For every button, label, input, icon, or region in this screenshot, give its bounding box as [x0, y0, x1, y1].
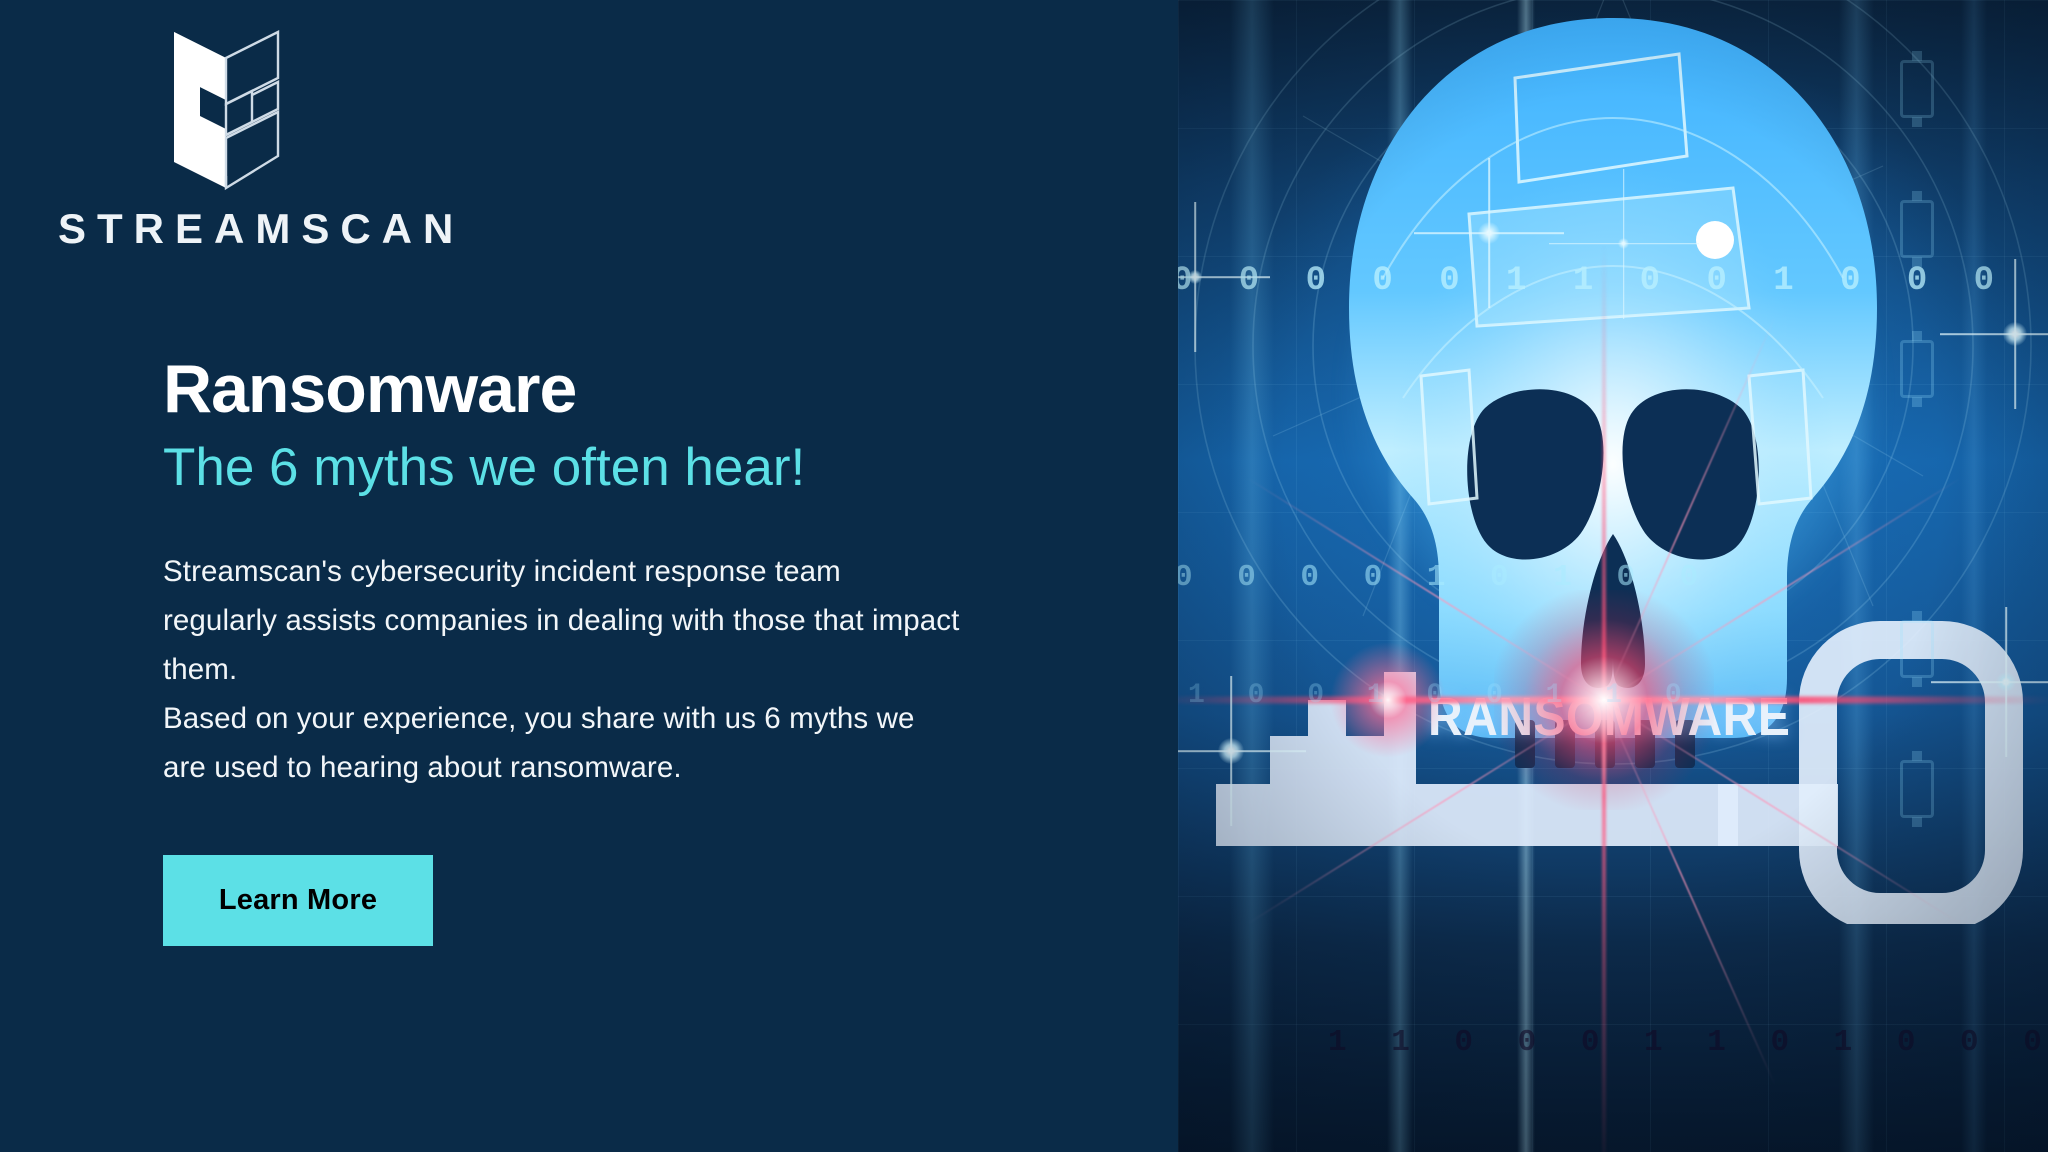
body-copy: Streamscan's cybersecurity incident resp…	[163, 548, 963, 793]
learn-more-button[interactable]: Learn More	[163, 855, 433, 946]
brand-lockup[interactable]: STREAMSCAN	[30, 26, 450, 250]
page-title: Ransomware	[163, 355, 1123, 423]
ransomware-promo-banner: STREAMSCAN Ransomware The 6 myths we oft…	[0, 0, 2048, 1152]
body-paragraph-1: Streamscan's cybersecurity incident resp…	[163, 548, 963, 695]
artwork-layers: RANSOMWARE 0 0 0 0 0 1 1 0 0 1 0 0 0 0	[1178, 0, 2048, 1152]
brand-wordmark: STREAMSCAN	[58, 208, 450, 250]
ransomware-skull-key-illustration: RANSOMWARE 0 0 0 0 0 1 1 0 0 1 0 0 0 0	[1178, 0, 2048, 1152]
left-content-panel: STREAMSCAN Ransomware The 6 myths we oft…	[0, 0, 1178, 1152]
text-content-block: Ransomware The 6 myths we often hear! St…	[163, 355, 1123, 946]
vignette-overlay	[1178, 0, 2048, 1152]
page-subtitle: The 6 myths we often hear!	[163, 439, 1123, 496]
body-paragraph-2: Based on your experience, you share with…	[163, 695, 963, 793]
streamscan-shield-s-logo-icon	[160, 26, 292, 194]
